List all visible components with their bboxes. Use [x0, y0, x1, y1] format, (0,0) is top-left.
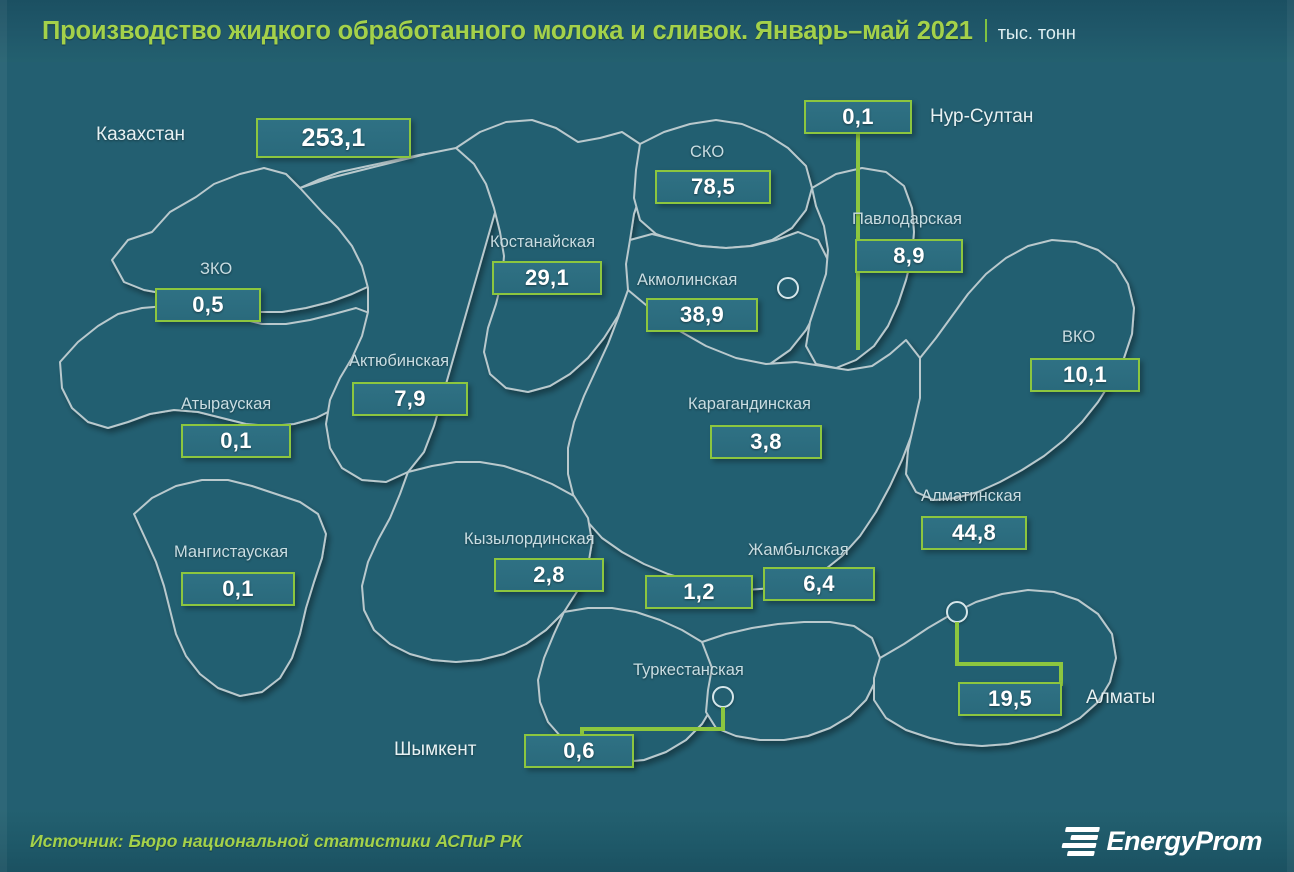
value-chip-shymkent[interactable]: 0,6 — [524, 734, 634, 768]
region-label-turkestan: Туркестанская — [633, 661, 744, 680]
leader-line-shymkent-horizontal — [580, 727, 725, 731]
value-chip-zko[interactable]: 0,5 — [155, 288, 261, 322]
map-stage: Казахстан 253,1 0,1 Нур-Султан СКО 78,5 … — [0, 62, 1294, 810]
energyprom-logo: EnergyProm — [1063, 826, 1262, 857]
infographic-page: Производство жидкого обработанного молок… — [0, 0, 1294, 872]
region-label-shymkent: Шымкент — [394, 739, 476, 761]
region-label-akmola: Акмолинская — [637, 271, 737, 290]
value-chip-nursultan[interactable]: 0,1 — [804, 100, 912, 134]
value-chip-almaty-city[interactable]: 19,5 — [958, 682, 1062, 716]
region-zhambyl — [702, 622, 880, 740]
value-chip-akmola[interactable]: 38,9 — [646, 298, 758, 332]
region-label-almaty-oblast: Алматинская — [921, 487, 1022, 506]
value-chip-kyzylorda[interactable]: 2,8 — [494, 558, 604, 592]
value-chip-almaty-oblast[interactable]: 44,8 — [921, 516, 1027, 550]
region-label-nursultan: Нур-Султан — [930, 106, 1033, 128]
value-chip-turkestan[interactable]: 1,2 — [645, 575, 753, 609]
region-label-pavlodar: Павлодарская — [852, 210, 962, 229]
region-label-zko: ЗКО — [200, 260, 232, 279]
logo-text: EnergyProm — [1106, 826, 1262, 857]
energyprom-e-icon — [1060, 826, 1100, 856]
title-divider — [985, 19, 987, 42]
national-value-chip[interactable]: 253,1 — [256, 118, 411, 158]
value-chip-aktobe[interactable]: 7,9 — [352, 382, 468, 416]
region-label-mangistau: Мангистауская — [174, 543, 288, 562]
page-title: Производство жидкого обработанного молок… — [42, 17, 973, 46]
city-marker-nursultan — [777, 277, 799, 299]
value-chip-vko[interactable]: 10,1 — [1030, 358, 1140, 392]
region-label-sko: СКО — [690, 143, 724, 162]
region-label-almaty-city: Алматы — [1086, 687, 1155, 709]
region-label-karaganda: Карагандинская — [688, 395, 811, 414]
region-label-atyrau: Атырауская — [181, 395, 271, 414]
leader-line-almaty-vertical — [955, 622, 959, 666]
region-label-aktobe: Актюбинская — [349, 352, 449, 371]
unit-label: тыс. тонн — [998, 23, 1076, 44]
region-label-zhambyl: Жамбылская — [748, 541, 849, 560]
header-content: Производство жидкого обработанного молок… — [42, 16, 1076, 46]
value-chip-zhambyl[interactable]: 6,4 — [763, 567, 875, 601]
value-chip-pavlodar[interactable]: 8,9 — [855, 239, 963, 273]
value-chip-karaganda[interactable]: 3,8 — [710, 425, 822, 459]
value-chip-atyrau[interactable]: 0,1 — [181, 424, 291, 458]
national-label: Казахстан — [96, 124, 185, 146]
value-chip-sko[interactable]: 78,5 — [655, 170, 771, 204]
header-bar: Производство жидкого обработанного молок… — [0, 0, 1294, 62]
value-chip-kostanay[interactable]: 29,1 — [492, 261, 602, 295]
region-label-vko: ВКО — [1062, 328, 1095, 347]
value-chip-mangistau[interactable]: 0,1 — [181, 572, 295, 606]
footer-bar: Источник: Бюро национальной статистики А… — [0, 810, 1294, 872]
source-note: Источник: Бюро национальной статистики А… — [30, 831, 522, 852]
leader-line-almaty-horizontal — [955, 662, 1063, 666]
region-label-kostanay: Костанайская — [490, 233, 595, 252]
region-label-kyzylorda: Кызылординская — [464, 530, 595, 549]
region-almaty — [874, 590, 1116, 746]
city-marker-shymkent — [712, 686, 734, 708]
city-marker-almaty — [946, 601, 968, 623]
